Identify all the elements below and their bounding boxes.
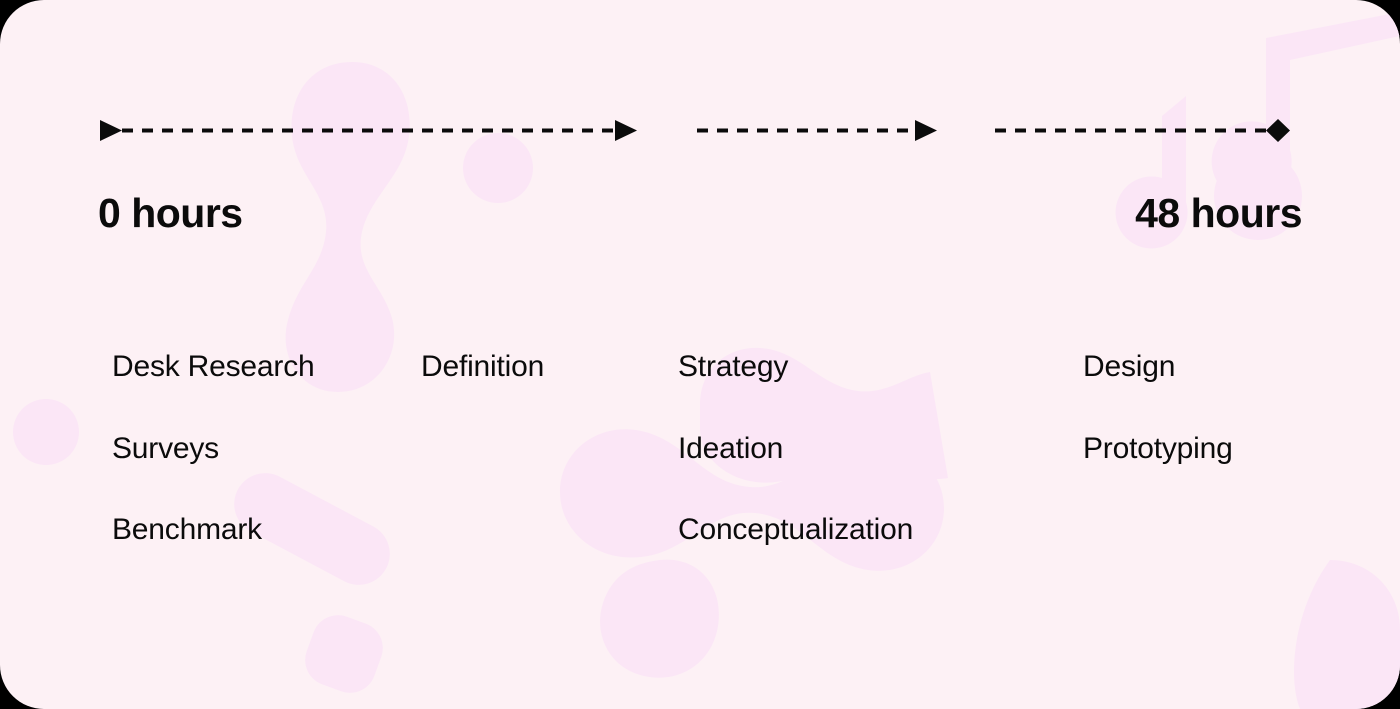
phase-arrow-3	[995, 119, 1290, 142]
phase-item: Definition	[421, 352, 544, 382]
timeline-end-label: 48 hours	[1135, 190, 1302, 237]
phase-item: Benchmark	[112, 515, 262, 545]
phase-item: Desk Research	[112, 352, 314, 382]
phase-item: Design	[1083, 352, 1175, 382]
phase-item: Prototyping	[1083, 434, 1233, 464]
timeline-start-label: 0 hours	[98, 190, 243, 237]
timeline-progress-bar	[98, 243, 1302, 298]
phase-item: Surveys	[112, 434, 219, 464]
phase-item: Strategy	[678, 352, 788, 382]
phase-item: Ideation	[678, 434, 783, 464]
phase-arrow-1	[100, 120, 637, 141]
phase-item: Conceptualization	[678, 515, 913, 545]
phase-columns: Desk ResearchSurveysBenchmarkDefinitionS…	[0, 352, 1400, 612]
timeline-card: 0 hours 48 hours Desk ResearchSurveysBen…	[0, 0, 1400, 709]
phase-arrow-2	[697, 120, 937, 141]
